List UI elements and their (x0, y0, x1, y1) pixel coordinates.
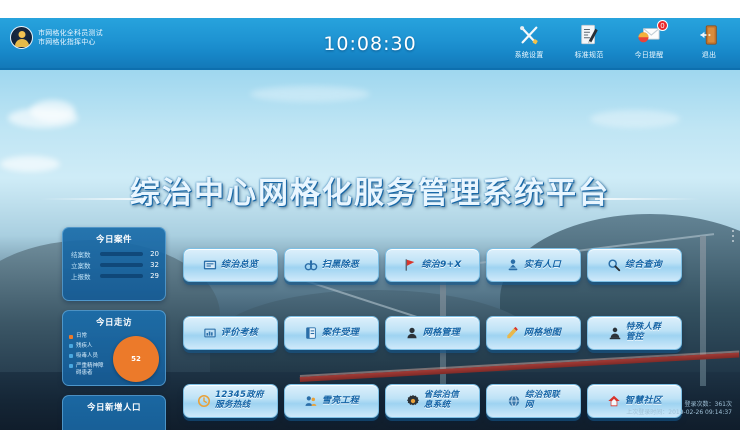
menu-button-label: 评价考核 (221, 328, 258, 338)
legend-label: 日常 (76, 333, 87, 340)
menu-button-label: 12345政府 服务热线 (215, 391, 264, 410)
menu-button-province-zongzhi-system[interactable]: 省综治信 息系统 (385, 384, 480, 418)
legend-color-swatch (69, 335, 73, 339)
menu-button-zongzhi-video-network[interactable]: 综治视联 网 (486, 384, 581, 418)
last-login-time: 上次登录时间：2019-02-26 09:14:37 (626, 409, 732, 418)
menu-button-special-group-control[interactable]: 特殊人群 管控 (587, 316, 682, 350)
map-pin-icon (506, 326, 520, 340)
menu-button-label: 综合查询 (625, 260, 662, 270)
gear-system-icon (406, 394, 420, 408)
chart-report-icon (203, 326, 217, 340)
bridge-tower (700, 236, 706, 386)
visits-pie-chart: 52 (113, 336, 159, 382)
legend-color-swatch (69, 354, 73, 358)
hotline-phone-icon (197, 394, 211, 408)
legend-label: 严重精神障碍患者 (76, 363, 106, 377)
person-grid-icon (405, 326, 419, 340)
menu-button-label: 省综治信 息系统 (424, 391, 459, 410)
today-visits-panel: 今日走访 日常 残疾人 吸毒人员 (62, 310, 166, 386)
menu-button-label: 综治总览 (221, 260, 258, 270)
menu-button-actual-population[interactable]: 实有人口 (486, 248, 581, 282)
camera-people-icon (304, 394, 318, 408)
app-root: 市网格化全科员测试 市网格化指挥中心 10:08:30 系统设 (0, 0, 740, 448)
legend-item: 残疾人 (69, 343, 106, 350)
stat-value: 32 (147, 261, 159, 269)
menu-button-label: 综治视联 网 (525, 391, 560, 410)
header-tools: 系统设置 标准规范 (506, 22, 732, 60)
header-bar: 市网格化全科员测试 市网格化指挥中心 10:08:30 系统设 (0, 18, 740, 70)
stat-label: 上报数 (71, 271, 96, 281)
today-visits-title: 今日走访 (63, 311, 165, 331)
folder-case-icon (304, 326, 318, 340)
stat-label: 结案数 (71, 249, 96, 259)
stat-bar-track (100, 274, 143, 278)
document-pencil-icon (579, 22, 599, 48)
tools-wrench-screwdriver-icon (518, 22, 540, 48)
stat-bar-track (100, 252, 143, 256)
login-count: 登录次数：361次 (626, 401, 732, 410)
top-margin (0, 0, 740, 18)
header-user-block: 市网格化全科员测试 市网格化指挥中心 (10, 26, 103, 49)
menu-grid: 综治总览 扫黑除恶 综治9+X 实有人口 (183, 248, 683, 418)
stat-value: 29 (147, 272, 159, 280)
menu-button-xueliang-project[interactable]: 雪亮工程 (284, 384, 379, 418)
menu-button-zongzhi-9x[interactable]: 综治9+X (385, 248, 480, 282)
handcuffs-icon (304, 258, 318, 272)
new-population-title: 今日新增人口 (63, 396, 165, 416)
cloud-decoration (250, 86, 370, 102)
title-divider-right (595, 198, 700, 200)
menu-button-label: 雪亮工程 (322, 396, 359, 406)
user-org: 市网格化指挥中心 (38, 38, 103, 46)
special-group-icon (608, 326, 622, 340)
menu-button-12345-hotline[interactable]: 12345政府 服务热线 (183, 384, 278, 418)
person-download-icon (506, 258, 520, 272)
exit-label: 退出 (702, 50, 716, 60)
stat-value: 20 (147, 250, 159, 258)
stat-bar-track (100, 263, 143, 267)
overview-book-icon (203, 258, 217, 272)
menu-button-label: 实有人口 (524, 260, 561, 270)
menu-button-saohei-chue[interactable]: 扫黑除恶 (284, 248, 379, 282)
menu-button-label: 扫黑除恶 (322, 260, 359, 270)
menu-button-grid-management[interactable]: 网格管理 (385, 316, 480, 350)
menu-button-label: 网格管理 (423, 328, 460, 338)
today-reminder-button[interactable]: 0 今日提醒 (626, 22, 672, 60)
reminder-badge: 0 (657, 20, 668, 31)
legend-item: 吸毒人员 (69, 353, 106, 360)
exit-door-icon (699, 22, 719, 48)
standards-button[interactable]: 标准规范 (566, 22, 612, 60)
visits-legend: 日常 残疾人 吸毒人员 严重精神障碍患者 (69, 333, 106, 376)
system-settings-button[interactable]: 系统设置 (506, 22, 552, 60)
today-cases-title: 今日案件 (63, 228, 165, 248)
page-title-wrap: 综治中心网格化服务管理系统平台 (0, 168, 740, 212)
standards-label: 标准规范 (575, 50, 604, 60)
user-text-block: 市网格化全科员测试 市网格化指挥中心 (38, 29, 103, 46)
legend-item: 严重精神障碍患者 (69, 363, 106, 377)
page-title: 综治中心网格化服务管理系统平台 (130, 168, 610, 212)
menu-button-evaluation-assessment[interactable]: 评价考核 (183, 316, 278, 350)
globe-video-icon (507, 394, 521, 408)
user-avatar-icon (10, 26, 33, 49)
title-divider-left (40, 198, 145, 200)
magnifier-search-icon (607, 258, 621, 272)
user-name: 市网格化全科员测试 (38, 29, 103, 37)
bottom-margin (0, 430, 740, 448)
scroll-indicator (732, 230, 734, 242)
menu-button-zongzhi-overview[interactable]: 综治总览 (183, 248, 278, 282)
home-community-icon (607, 394, 621, 408)
menu-button-label: 网格地图 (524, 328, 561, 338)
menu-button-label: 综治9+X (421, 260, 461, 270)
today-cases-panel: 今日案件 结案数 20 立案数 32 上报数 29 (62, 227, 166, 301)
stat-row: 上报数 29 (63, 270, 165, 281)
menu-button-label: 特殊人群 管控 (626, 323, 661, 342)
visits-chart: 日常 残疾人 吸毒人员 严重精神障碍患者 (63, 331, 165, 389)
menu-button-grid-map[interactable]: 网格地图 (486, 316, 581, 350)
today-reminder-label: 今日提醒 (635, 50, 664, 60)
cloud-decoration (30, 100, 75, 122)
menu-button-comprehensive-query[interactable]: 综合查询 (587, 248, 682, 282)
stat-label: 立案数 (71, 260, 96, 270)
footer-login-info: 登录次数：361次 上次登录时间：2019-02-26 09:14:37 (626, 401, 732, 418)
exit-button[interactable]: 退出 (686, 22, 732, 60)
menu-button-case-acceptance[interactable]: 案件受理 (284, 316, 379, 350)
new-population-panel: 今日新增人口 0 户籍人口 0 流动人口 (62, 395, 166, 430)
legend-label: 吸毒人员 (76, 353, 98, 360)
cloud-decoration (590, 110, 680, 128)
menu-button-label: 案件受理 (322, 328, 359, 338)
legend-color-swatch (69, 364, 73, 368)
main-stage: 综治中心网格化服务管理系统平台 今日案件 结案数 20 立案数 32 上报数 2… (0, 70, 740, 430)
legend-color-swatch (69, 344, 73, 348)
stat-row: 结案数 20 (63, 248, 165, 259)
legend-label: 残疾人 (76, 343, 93, 350)
legend-item: 日常 (69, 333, 106, 340)
stat-row: 立案数 32 (63, 259, 165, 270)
pie-value-label: 52 (131, 355, 141, 363)
system-settings-label: 系统设置 (515, 50, 544, 60)
red-flag-icon (403, 258, 417, 272)
